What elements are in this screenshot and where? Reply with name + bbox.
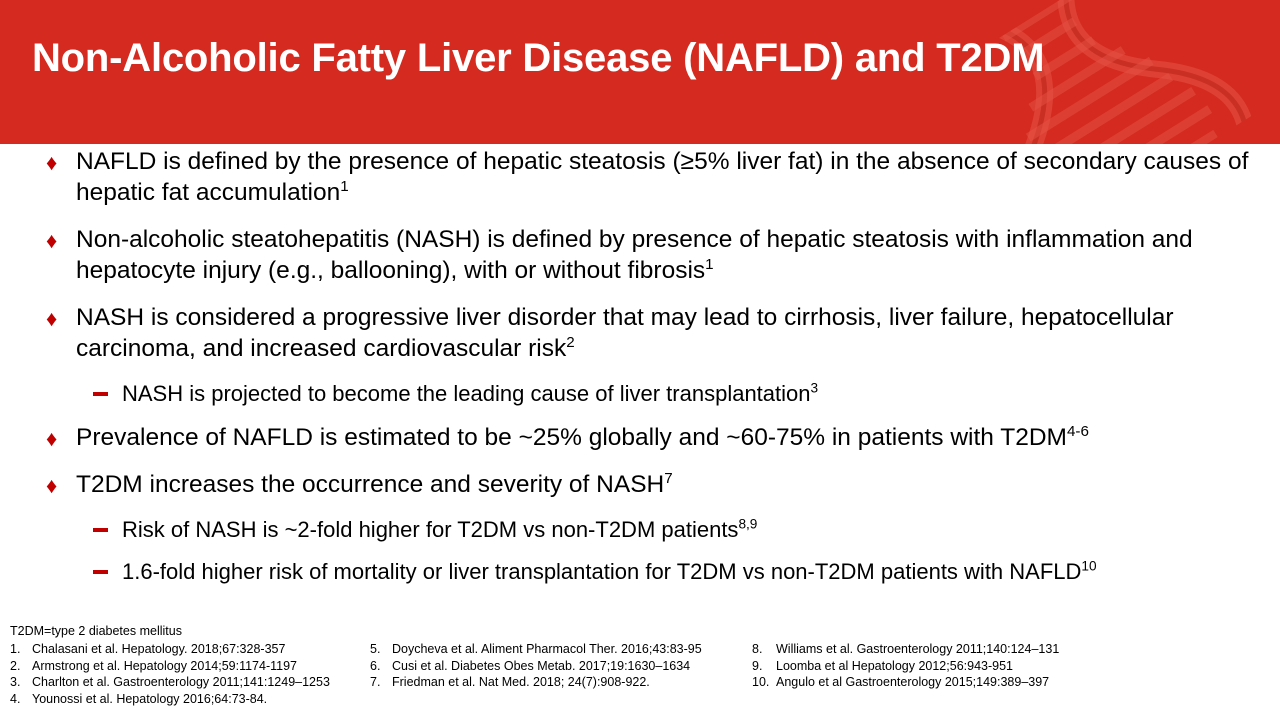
reference-item: 1.Chalasani et al. Hepatology. 2018;67:3… — [10, 641, 330, 658]
reference-number: 2. — [10, 658, 32, 675]
diamond-bullet-icon: ♦ — [46, 473, 57, 499]
dash-bullet-icon — [93, 528, 108, 532]
reference-text: Cusi et al. Diabetes Obes Metab. 2017;19… — [392, 658, 690, 675]
bullet-item: ♦NASH is considered a progressive liver … — [0, 302, 1280, 364]
slide-body: ♦NAFLD is defined by the presence of hep… — [0, 146, 1280, 600]
reference-text: Loomba et al Hepatology 2012;56:943-951 — [776, 658, 1013, 675]
citation-superscript: 2 — [566, 334, 574, 351]
citation-superscript: 8,9 — [738, 517, 757, 532]
bullet-text: 1.6-fold higher risk of mortality or liv… — [122, 559, 1081, 584]
bullet-text: NASH is projected to become the leading … — [122, 381, 811, 406]
citation-superscript: 4-6 — [1067, 423, 1089, 440]
reference-number: 3. — [10, 674, 32, 691]
reference-number: 4. — [10, 691, 32, 708]
slide-header-band: Non-Alcoholic Fatty Liver Disease (NAFLD… — [0, 0, 1280, 144]
reference-text: Armstrong et al. Hepatology 2014;59:1174… — [32, 658, 297, 675]
reference-item: 2.Armstrong et al. Hepatology 2014;59:11… — [10, 658, 330, 675]
reference-number: 8. — [752, 641, 776, 658]
reference-item: 10.Angulo et al Gastroenterology 2015;14… — [752, 674, 1059, 691]
citation-superscript: 1 — [705, 256, 713, 273]
bullet-item: ♦Prevalence of NAFLD is estimated to be … — [0, 422, 1280, 453]
reference-column-2: 5.Doycheva et al. Aliment Pharmacol Ther… — [370, 641, 702, 691]
bullet-text: Non-alcoholic steatohepatitis (NASH) is … — [76, 226, 1193, 284]
reference-item: 7.Friedman et al. Nat Med. 2018; 24(7):9… — [370, 674, 702, 691]
citation-superscript: 7 — [664, 470, 672, 487]
bullet-text: T2DM increases the occurrence and severi… — [76, 471, 664, 498]
bullet-item: ♦T2DM increases the occurrence and sever… — [0, 469, 1280, 500]
reference-number: 5. — [370, 641, 392, 658]
diamond-bullet-icon: ♦ — [46, 306, 57, 332]
reference-item: 4.Younossi et al. Hepatology 2016;64:73-… — [10, 691, 330, 708]
bullet-text: Prevalence of NAFLD is estimated to be ~… — [76, 424, 1067, 451]
citation-superscript: 1 — [340, 178, 348, 195]
reference-text: Friedman et al. Nat Med. 2018; 24(7):908… — [392, 674, 650, 691]
sub-bullet-item: NASH is projected to become the leading … — [0, 380, 1280, 408]
reference-number: 9. — [752, 658, 776, 675]
bullet-text: NAFLD is defined by the presence of hepa… — [76, 148, 1248, 206]
abbreviation-note: T2DM=type 2 diabetes mellitus — [10, 623, 182, 640]
reference-number: 1. — [10, 641, 32, 658]
diamond-bullet-icon: ♦ — [46, 150, 57, 176]
reference-item: 8.Williams et al. Gastroenterology 2011;… — [752, 641, 1059, 658]
bullet-text: Risk of NASH is ~2-fold higher for T2DM … — [122, 517, 738, 542]
reference-number: 6. — [370, 658, 392, 675]
sub-bullet-item: 1.6-fold higher risk of mortality or liv… — [0, 558, 1280, 586]
reference-column-3: 8.Williams et al. Gastroenterology 2011;… — [752, 641, 1059, 691]
reference-item: 5.Doycheva et al. Aliment Pharmacol Ther… — [370, 641, 702, 658]
reference-item: 3.Charlton et al. Gastroenterology 2011;… — [10, 674, 330, 691]
sub-bullet-item: Risk of NASH is ~2-fold higher for T2DM … — [0, 516, 1280, 544]
bullet-text: NASH is considered a progressive liver d… — [76, 304, 1174, 362]
reference-number: 10. — [752, 674, 776, 691]
dash-bullet-icon — [93, 392, 108, 396]
reference-column-1: 1.Chalasani et al. Hepatology. 2018;67:3… — [10, 641, 330, 707]
bullet-item: ♦NAFLD is defined by the presence of hep… — [0, 146, 1280, 208]
reference-text: Charlton et al. Gastroenterology 2011;14… — [32, 674, 330, 691]
reference-item: 6.Cusi et al. Diabetes Obes Metab. 2017;… — [370, 658, 702, 675]
reference-text: Younossi et al. Hepatology 2016;64:73-84… — [32, 691, 267, 708]
reference-number: 7. — [370, 674, 392, 691]
diamond-bullet-icon: ♦ — [46, 228, 57, 254]
citation-superscript: 10 — [1081, 559, 1096, 574]
reference-item: 9.Loomba et al Hepatology 2012;56:943-95… — [752, 658, 1059, 675]
reference-text: Angulo et al Gastroenterology 2015;149:3… — [776, 674, 1049, 691]
reference-text: Chalasani et al. Hepatology. 2018;67:328… — [32, 641, 285, 658]
diamond-bullet-icon: ♦ — [46, 426, 57, 452]
reference-text: Doycheva et al. Aliment Pharmacol Ther. … — [392, 641, 702, 658]
citation-superscript: 3 — [811, 381, 819, 396]
page-title: Non-Alcoholic Fatty Liver Disease (NAFLD… — [32, 36, 1257, 80]
bullet-item: ♦Non-alcoholic steatohepatitis (NASH) is… — [0, 224, 1280, 286]
reference-text: Williams et al. Gastroenterology 2011;14… — [776, 641, 1059, 658]
dash-bullet-icon — [93, 570, 108, 574]
